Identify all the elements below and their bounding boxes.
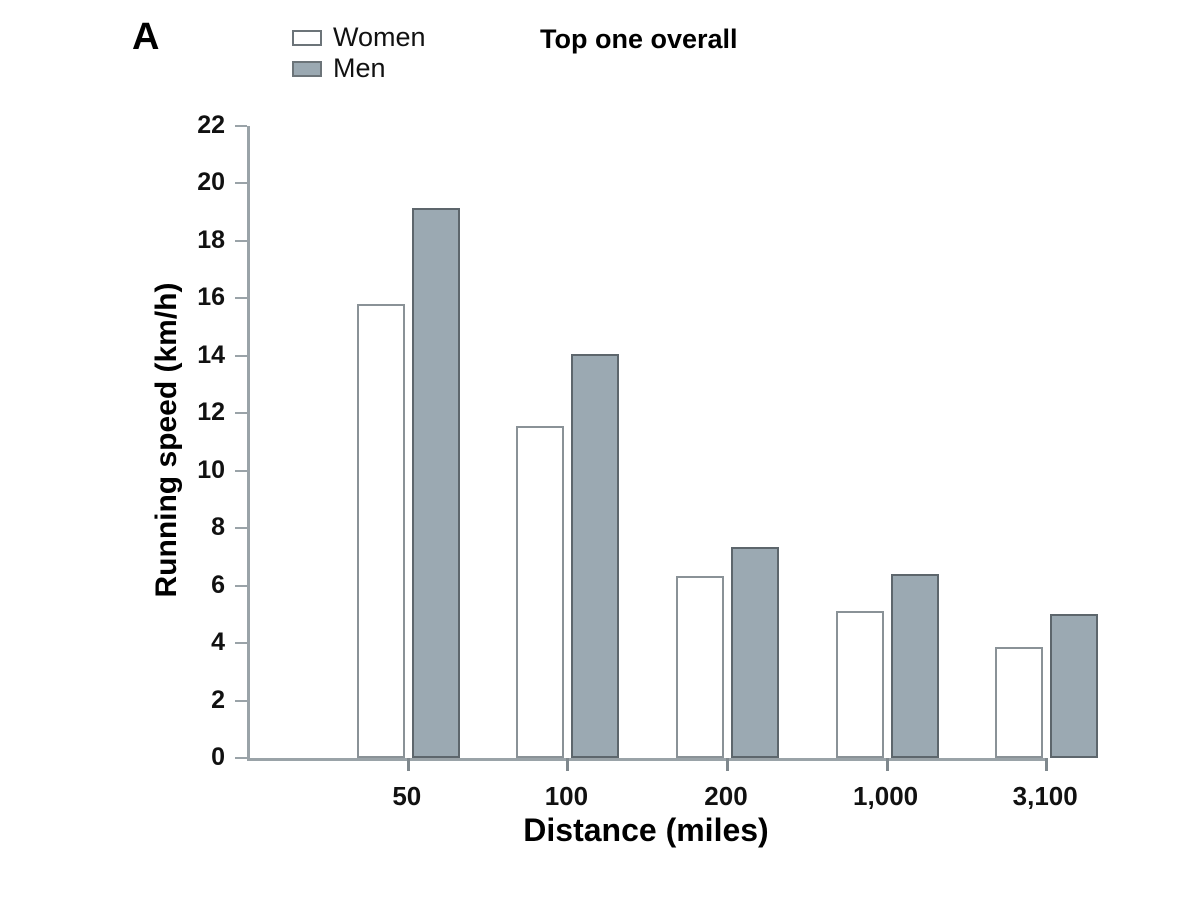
- y-axis-tick: [235, 470, 247, 472]
- bar-women-3100: [995, 647, 1043, 758]
- chart-legend: Women Men: [292, 22, 426, 84]
- x-axis-title: Distance (miles): [247, 812, 1045, 849]
- legend-swatch-men-icon: [292, 61, 322, 77]
- bar-men-1000: [891, 574, 939, 758]
- x-axis-tick: [1045, 758, 1048, 771]
- y-axis-tick-label: 0: [0, 743, 225, 772]
- y-axis-tick: [235, 642, 247, 644]
- legend-item-women: Women: [292, 22, 426, 53]
- x-axis-tick: [726, 758, 729, 771]
- x-axis-tick-label: 100: [496, 781, 636, 812]
- bar-women-200: [676, 576, 724, 758]
- y-axis-line: [247, 126, 250, 758]
- x-axis-tick-label: 50: [337, 781, 477, 812]
- x-axis-tick-label: 200: [656, 781, 796, 812]
- legend-swatch-women-icon: [292, 30, 322, 46]
- x-axis-tick: [886, 758, 889, 771]
- y-axis-tick: [235, 527, 247, 529]
- bar-women-1000: [836, 611, 884, 758]
- y-axis-tick: [235, 297, 247, 299]
- figure-panel-a: A Women Men Top one overall Running spee…: [0, 0, 1200, 900]
- bar-men-3100: [1050, 614, 1098, 758]
- bar-men-100: [571, 354, 619, 758]
- y-axis-tick: [235, 240, 247, 242]
- x-axis-tick-label: 3,100: [975, 781, 1115, 812]
- bar-men-50: [412, 208, 460, 758]
- y-axis-tick: [235, 757, 247, 759]
- bar-women-100: [516, 426, 564, 758]
- y-axis-tick: [235, 355, 247, 357]
- y-axis-tick: [235, 125, 247, 127]
- y-axis-tick-label: 18: [0, 226, 225, 255]
- x-axis-tick-label: 1,000: [816, 781, 956, 812]
- legend-label-men: Men: [333, 55, 386, 82]
- y-axis-tick-label: 10: [0, 456, 225, 485]
- chart-title: Top one overall: [540, 24, 738, 55]
- legend-item-men: Men: [292, 53, 426, 84]
- y-axis-tick: [235, 585, 247, 587]
- x-axis-line: [247, 758, 1045, 761]
- y-axis-tick-label: 4: [0, 628, 225, 657]
- y-axis-tick: [235, 700, 247, 702]
- bar-men-200: [731, 547, 779, 758]
- y-axis-title: Running speed (km/h): [150, 120, 184, 760]
- x-axis-tick: [407, 758, 410, 771]
- y-axis-tick-label: 6: [0, 571, 225, 600]
- y-axis-tick: [235, 412, 247, 414]
- bar-women-50: [357, 304, 405, 758]
- y-axis-tick-label: 2: [0, 686, 225, 715]
- y-axis-tick-label: 12: [0, 398, 225, 427]
- y-axis-tick: [235, 182, 247, 184]
- y-axis-tick-label: 14: [0, 341, 225, 370]
- y-axis-tick-label: 20: [0, 168, 225, 197]
- y-axis-tick-label: 8: [0, 513, 225, 542]
- x-axis-tick: [566, 758, 569, 771]
- y-axis-tick-label: 22: [0, 111, 225, 140]
- legend-label-women: Women: [333, 24, 426, 51]
- plot-area: 501002001,0003,100: [247, 126, 1045, 758]
- y-axis-tick-label: 16: [0, 283, 225, 312]
- panel-label: A: [132, 18, 159, 56]
